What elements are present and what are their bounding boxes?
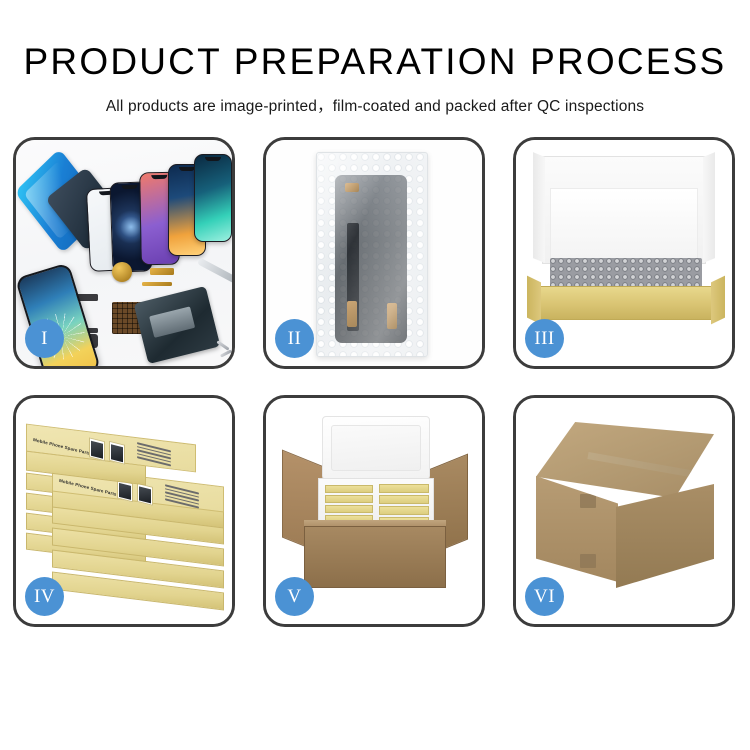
step-badge-4: IV bbox=[25, 577, 64, 616]
foam-lid-icon bbox=[322, 416, 430, 480]
page-title: PRODUCT PREPARATION PROCESS bbox=[0, 40, 750, 84]
box-art-screen bbox=[137, 483, 153, 506]
plastic-sheen bbox=[317, 153, 427, 356]
gold-bracket-icon bbox=[150, 268, 174, 275]
carton-right-face bbox=[616, 484, 714, 588]
page-subtitle: All products are image-printed，film-coat… bbox=[0, 94, 750, 116]
step-badge-1: I bbox=[25, 319, 64, 358]
tweezers-icon bbox=[197, 258, 235, 286]
step-badge-5: V bbox=[275, 577, 314, 616]
step-badge-2: II bbox=[275, 319, 314, 358]
process-step-2: II bbox=[263, 137, 485, 369]
bubble-wrap-bag-icon bbox=[316, 152, 428, 357]
kraft-box-tray-icon bbox=[538, 286, 714, 320]
process-step-6: VI bbox=[513, 395, 735, 627]
step-badge-6: VI bbox=[525, 577, 564, 616]
product-preparation-infographic: PRODUCT PREPARATION PROCESS All products… bbox=[0, 0, 750, 750]
box-feature-bullets bbox=[137, 442, 171, 468]
process-step-4: Mobile Phone Spare Parts Mobile Phone Sp… bbox=[13, 395, 235, 627]
process-step-3: III bbox=[513, 137, 735, 369]
speaker-module-icon bbox=[112, 262, 132, 282]
box-art-screen bbox=[109, 441, 125, 465]
header: PRODUCT PREPARATION PROCESS All products… bbox=[0, 0, 750, 116]
logic-board-icon bbox=[134, 286, 221, 364]
carton-body-icon bbox=[304, 526, 446, 588]
process-step-5: V bbox=[263, 395, 485, 627]
box-art-screen bbox=[89, 437, 105, 461]
box-label-text: Mobile Phone Spare Parts bbox=[33, 437, 91, 456]
foam-sheet-icon bbox=[550, 188, 698, 260]
gold-flex-icon bbox=[142, 282, 172, 286]
process-step-1: I bbox=[13, 137, 235, 369]
tape-tab-icon bbox=[580, 554, 596, 568]
screw-icon bbox=[220, 349, 232, 357]
phone-screen-d-icon bbox=[194, 154, 232, 242]
carton-left-face bbox=[536, 476, 618, 582]
tape-tab-icon bbox=[580, 494, 596, 508]
packing-tape-icon bbox=[587, 452, 716, 481]
process-step-grid: I II III bbox=[13, 137, 737, 627]
step-badge-3: III bbox=[525, 319, 564, 358]
